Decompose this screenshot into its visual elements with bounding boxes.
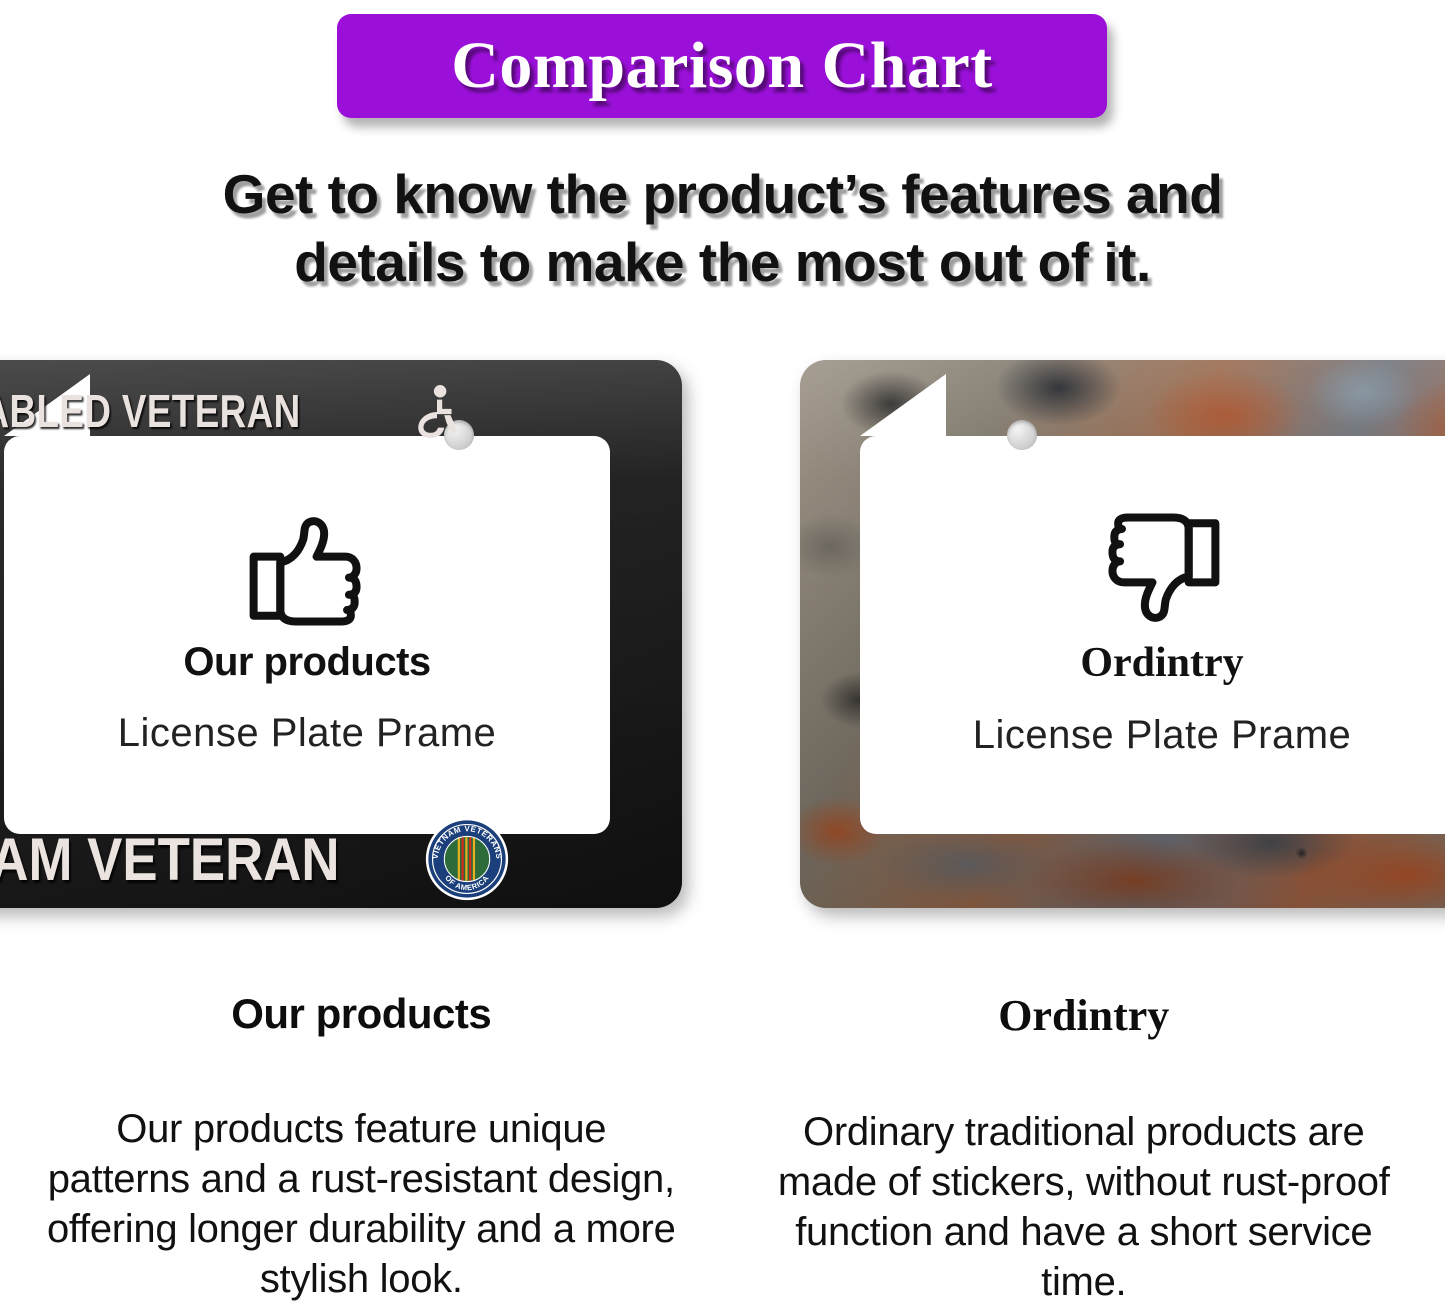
wheelchair-accessible-icon <box>412 384 462 438</box>
plate-bottom-band-left: TNAM VETERAN <box>0 828 509 890</box>
subtitle-line-1: Get to know the product’s features and <box>0 160 1445 228</box>
subtitle-line-2: details to make the most out of it. <box>0 228 1445 296</box>
details-heading-right: Ordintry <box>998 990 1169 1041</box>
details-paragraph-left: Our products feature unique patterns and… <box>41 1104 681 1304</box>
plate-top-band-left: DISABLED VETERAN <box>0 386 462 436</box>
details-heading-left: Our products <box>231 990 491 1038</box>
banner-title-box: Comparison Chart <box>337 14 1107 118</box>
comparison-chart-page: Comparison Chart Get to know the product… <box>0 0 1445 1314</box>
frames-row: DISABLED VETERAN TNAM VETERAN <box>0 352 1445 932</box>
plate-notch-right <box>860 374 946 436</box>
card-title-left: Our products <box>183 640 430 685</box>
card-subtitle-left: License Plate Prame <box>118 711 497 756</box>
product-card-our-products: DISABLED VETERAN TNAM VETERAN <box>0 360 682 908</box>
card-title-right: Ordintry <box>1080 639 1243 687</box>
plate-top-label: DISABLED VETERAN <box>0 384 301 438</box>
details-column-our-products: Our products Our products feature unique… <box>0 965 723 1314</box>
card-content-right: Ordintry License Plate Prame <box>860 436 1445 834</box>
product-card-ordinary: Ordintry License Plate Prame <box>800 360 1445 908</box>
thumbs-up-icon <box>246 514 368 626</box>
page-title: Comparison Chart <box>451 28 993 104</box>
plate-bottom-label: TNAM VETERAN <box>0 825 339 894</box>
details-column-ordinary: Ordintry Ordinary traditional products a… <box>723 965 1445 1314</box>
card-subtitle-right: License Plate Prame <box>973 713 1352 758</box>
details-paragraph-right: Ordinary traditional products are made o… <box>774 1107 1394 1307</box>
card-content-left: Our products License Plate Prame <box>4 436 610 834</box>
comparison-details-row: Our products Our products feature unique… <box>0 965 1445 1314</box>
thumbs-down-icon <box>1101 513 1223 625</box>
page-subtitle: Get to know the product’s features and d… <box>0 160 1445 296</box>
